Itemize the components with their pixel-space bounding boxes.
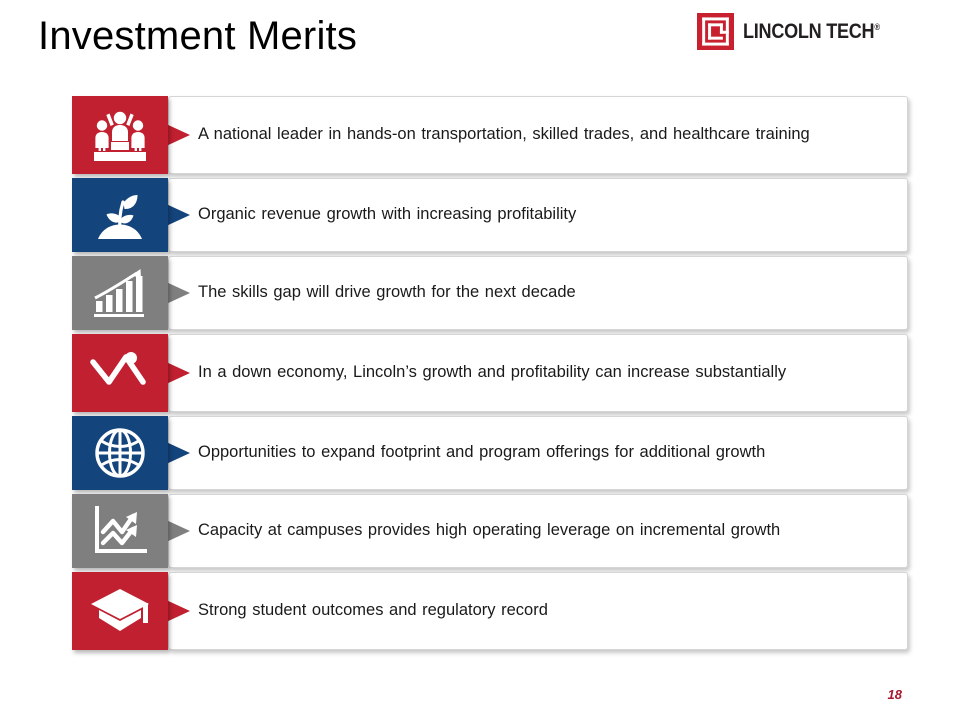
graduation-cap-icon xyxy=(72,572,168,650)
list-item[interactable]: Strong student outcomes and regulatory r… xyxy=(72,572,908,650)
bar-chart-growth-icon xyxy=(72,256,168,330)
merit-text: In a down economy, Lincoln’s growth and … xyxy=(169,360,800,386)
connector-arrow-icon xyxy=(164,120,198,150)
merit-text: The skills gap will drive growth for the… xyxy=(169,280,590,306)
page-title: Investment Merits xyxy=(38,12,357,60)
merit-panel[interactable]: Strong student outcomes and regulatory r… xyxy=(168,572,908,650)
connector-arrow-icon xyxy=(164,438,198,468)
connector-arrow-icon xyxy=(164,516,198,546)
slide-canvas: Investment Merits LINCOLN TECH® xyxy=(0,0,960,720)
sprouting-plant-icon xyxy=(72,178,168,252)
lincoln-tech-wordmark: LINCOLN TECH® xyxy=(743,20,880,44)
merit-panel[interactable]: A national leader in hands-on transporta… xyxy=(168,96,908,174)
merit-rows-list: A national leader in hands-on transporta… xyxy=(72,96,908,654)
merit-text: Opportunities to expand footprint and pr… xyxy=(169,440,779,466)
list-item[interactable]: The skills gap will drive growth for the… xyxy=(72,256,908,330)
list-item[interactable]: Organic revenue growth with increasing p… xyxy=(72,178,908,252)
registered-trademark-icon: ® xyxy=(874,22,879,32)
connector-arrow-icon xyxy=(164,358,198,388)
list-item[interactable]: In a down economy, Lincoln’s growth and … xyxy=(72,334,908,412)
merit-text: Capacity at campuses provides high opera… xyxy=(169,518,794,544)
page-number: 18 xyxy=(888,687,902,702)
merit-panel[interactable]: Opportunities to expand footprint and pr… xyxy=(168,416,908,490)
merit-text: A national leader in hands-on transporta… xyxy=(169,122,824,148)
lincoln-tech-logo-mark-icon xyxy=(697,13,734,50)
connector-arrow-icon xyxy=(164,200,198,230)
globe-icon xyxy=(72,416,168,490)
list-item[interactable]: Capacity at campuses provides high opera… xyxy=(72,494,908,568)
lincoln-tech-logo: LINCOLN TECH® xyxy=(697,13,902,50)
merit-text: Strong student outcomes and regulatory r… xyxy=(169,598,562,624)
merit-panel[interactable]: Capacity at campuses provides high opera… xyxy=(168,494,908,568)
list-item[interactable]: Opportunities to expand footprint and pr… xyxy=(72,416,908,490)
merit-panel[interactable]: Organic revenue growth with increasing p… xyxy=(168,178,908,252)
connector-arrow-icon xyxy=(164,278,198,308)
merit-panel[interactable]: In a down economy, Lincoln’s growth and … xyxy=(168,334,908,412)
list-item[interactable]: A national leader in hands-on transporta… xyxy=(72,96,908,174)
line-chart-arrows-icon xyxy=(72,494,168,568)
merit-text: Organic revenue growth with increasing p… xyxy=(169,202,590,228)
zigzag-line-chart-icon xyxy=(72,334,168,412)
podium-winners-icon xyxy=(72,96,168,174)
merit-panel[interactable]: The skills gap will drive growth for the… xyxy=(168,256,908,330)
connector-arrow-icon xyxy=(164,596,198,626)
